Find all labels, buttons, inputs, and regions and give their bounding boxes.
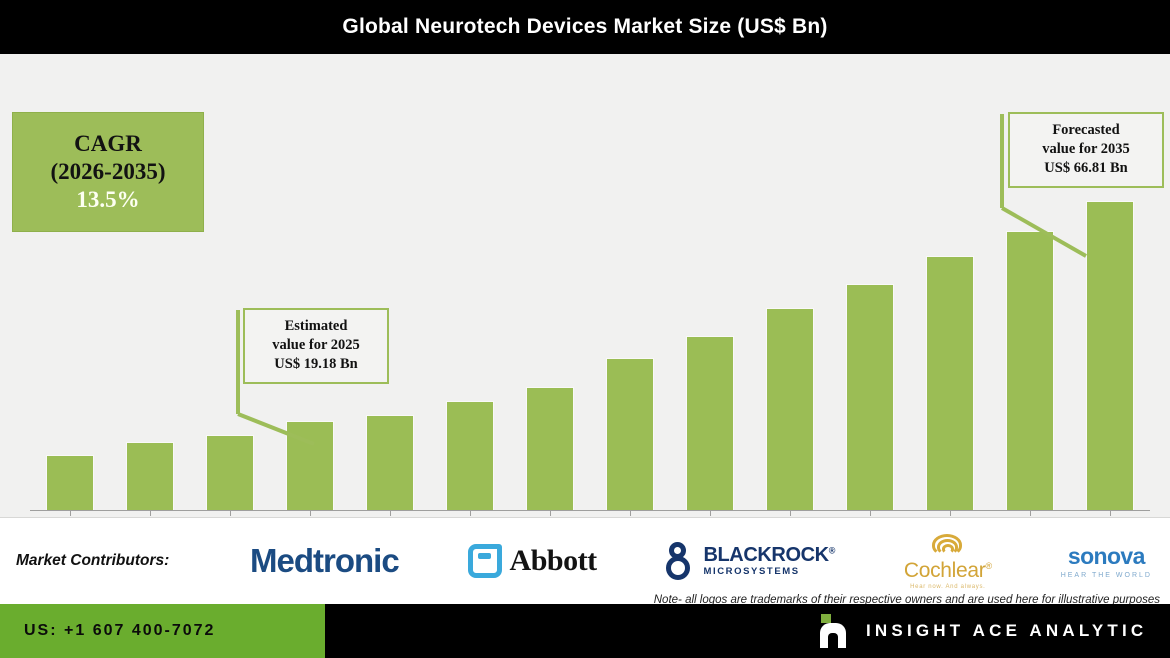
market-contributors-label: Market Contributors: bbox=[0, 552, 250, 570]
bar-slot bbox=[590, 54, 670, 510]
bar-slot bbox=[510, 54, 590, 510]
annotation-forecasted-2035: Forecasted value for 2035 US$ 66.81 Bn bbox=[1008, 112, 1164, 188]
bar-series bbox=[30, 54, 1150, 510]
logo-blackrock-microsystems: BLACKROCK® MICROSYSTEMS bbox=[665, 518, 835, 604]
bar[interactable] bbox=[207, 436, 253, 510]
bar-slot bbox=[430, 54, 510, 510]
x-axis-line bbox=[30, 510, 1150, 511]
logo-sonova-tagline: HEAR THE WORLD bbox=[1061, 572, 1152, 579]
logo-abbott-text: Abbott bbox=[510, 544, 597, 578]
bar[interactable] bbox=[1007, 232, 1053, 510]
bar-slot bbox=[670, 54, 750, 510]
bar-slot bbox=[110, 54, 190, 510]
bar[interactable] bbox=[687, 337, 733, 510]
cochlear-spiral-icon bbox=[930, 532, 966, 558]
logo-abbott: Abbott bbox=[468, 518, 597, 604]
insightace-logo-icon bbox=[820, 614, 846, 648]
annotation-estimated-2025: Estimated value for 2025 US$ 19.18 Bn bbox=[243, 308, 389, 384]
bar[interactable] bbox=[767, 309, 813, 510]
annotation-forecasted-line-2: value for 2035 bbox=[1020, 140, 1152, 159]
phone-chip[interactable]: US: +1 607 400-7072 bbox=[0, 604, 325, 658]
bar-slot bbox=[750, 54, 830, 510]
bar[interactable] bbox=[927, 257, 973, 510]
bar[interactable] bbox=[447, 402, 493, 510]
brand-name: INSIGHT ACE ANALYTIC bbox=[866, 621, 1147, 641]
bar-slot bbox=[30, 54, 110, 510]
annotation-estimated-line-1: Estimated bbox=[255, 317, 377, 336]
annotation-forecasted-line-3: US$ 66.81 Bn bbox=[1020, 159, 1152, 178]
bar[interactable] bbox=[527, 388, 573, 510]
logo-medtronic: Medtronic bbox=[250, 518, 399, 604]
abbott-a-icon bbox=[468, 544, 502, 578]
annotation-forecasted-line-1: Forecasted bbox=[1020, 121, 1152, 140]
bar[interactable] bbox=[847, 285, 893, 510]
logo-sonova-text: sonova bbox=[1068, 543, 1145, 570]
market-contributors-band: Market Contributors: Medtronic Abbott BL… bbox=[0, 518, 1170, 604]
logo-sonova: sonova HEAR THE WORLD bbox=[1061, 518, 1152, 604]
logo-medtronic-text: Medtronic bbox=[250, 542, 399, 580]
page-title: Global Neurotech Devices Market Size (US… bbox=[342, 15, 827, 39]
logo-cochlear-text: Cochlear® bbox=[904, 559, 992, 583]
bar[interactable] bbox=[607, 359, 653, 510]
chart-container: CAGR (2026-2035) 13.5% Estimated value f… bbox=[0, 54, 1170, 518]
title-bar: Global Neurotech Devices Market Size (US… bbox=[0, 0, 1170, 54]
logo-blackrock-text: BLACKROCK® bbox=[703, 545, 835, 565]
logo-row: Medtronic Abbott BLACKROCK® MICROSYSTEMS… bbox=[250, 518, 1170, 604]
bar-slot bbox=[830, 54, 910, 510]
phone-number: US: +1 607 400-7072 bbox=[24, 622, 215, 640]
logo-blackrock-subtext: MICROSYSTEMS bbox=[703, 567, 835, 577]
logo-cochlear-tagline: Hear now. And always. bbox=[910, 584, 985, 590]
bar[interactable] bbox=[127, 443, 173, 510]
logo-cochlear: Cochlear® Hear now. And always. bbox=[904, 518, 992, 604]
bar-slot bbox=[910, 54, 990, 510]
annotation-estimated-line-2: value for 2025 bbox=[255, 336, 377, 355]
blackrock-double-circle-icon bbox=[665, 542, 698, 580]
footer-bar: US: +1 607 400-7072 INSIGHT ACE ANALYTIC bbox=[0, 604, 1170, 658]
bar[interactable] bbox=[47, 456, 93, 510]
brand-lockup: INSIGHT ACE ANALYTIC bbox=[820, 604, 1147, 658]
annotation-estimated-line-3: US$ 19.18 Bn bbox=[255, 355, 377, 374]
